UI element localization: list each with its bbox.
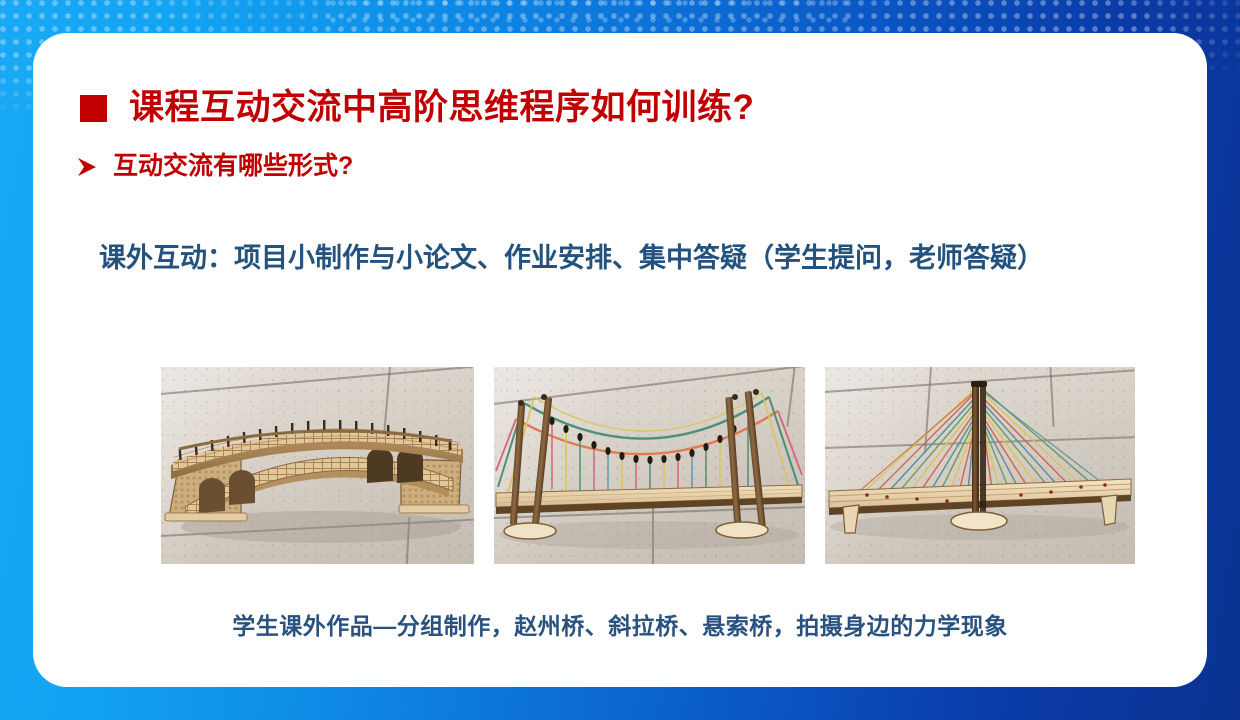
suspension-bridge-illustration [494,367,805,564]
slide-canvas: 课程互动交流中高阶思维程序如何训练? 互动交流有哪些形式? 课外互动：项目小制作… [0,0,1240,720]
slide-heading: 课程互动交流中高阶思维程序如何训练? [80,89,1177,128]
photo-strip-caption: 学生课外作品—分组制作，赵州桥、斜拉桥、悬索桥，拍摄身边的力学现象 [33,607,1207,641]
photo-cable-stayed-bridge-model [825,367,1135,564]
slide-body-text: 课外互动：项目小制作与小论文、作业安排、集中答疑（学生提问，老师答疑） [99,239,1201,279]
slide-heading-text: 课程互动交流中高阶思维程序如何训练? [129,89,754,128]
photo-strip [161,367,1135,564]
slide-subheading-text: 互动交流有哪些形式? [113,153,353,181]
cable-stayed-bridge-illustration [825,367,1135,564]
slide-content-card: 课程互动交流中高阶思维程序如何训练? 互动交流有哪些形式? 课外互动：项目小制作… [33,33,1207,687]
photo-arch-bridge-model [161,367,474,564]
slide-subheading: 互动交流有哪些形式? [75,153,1177,181]
arch-bridge-illustration [161,367,474,564]
photo-suspension-bridge-model [494,367,805,564]
filled-square-bullet-icon [80,95,107,122]
arrow-bullet-icon [75,155,99,179]
